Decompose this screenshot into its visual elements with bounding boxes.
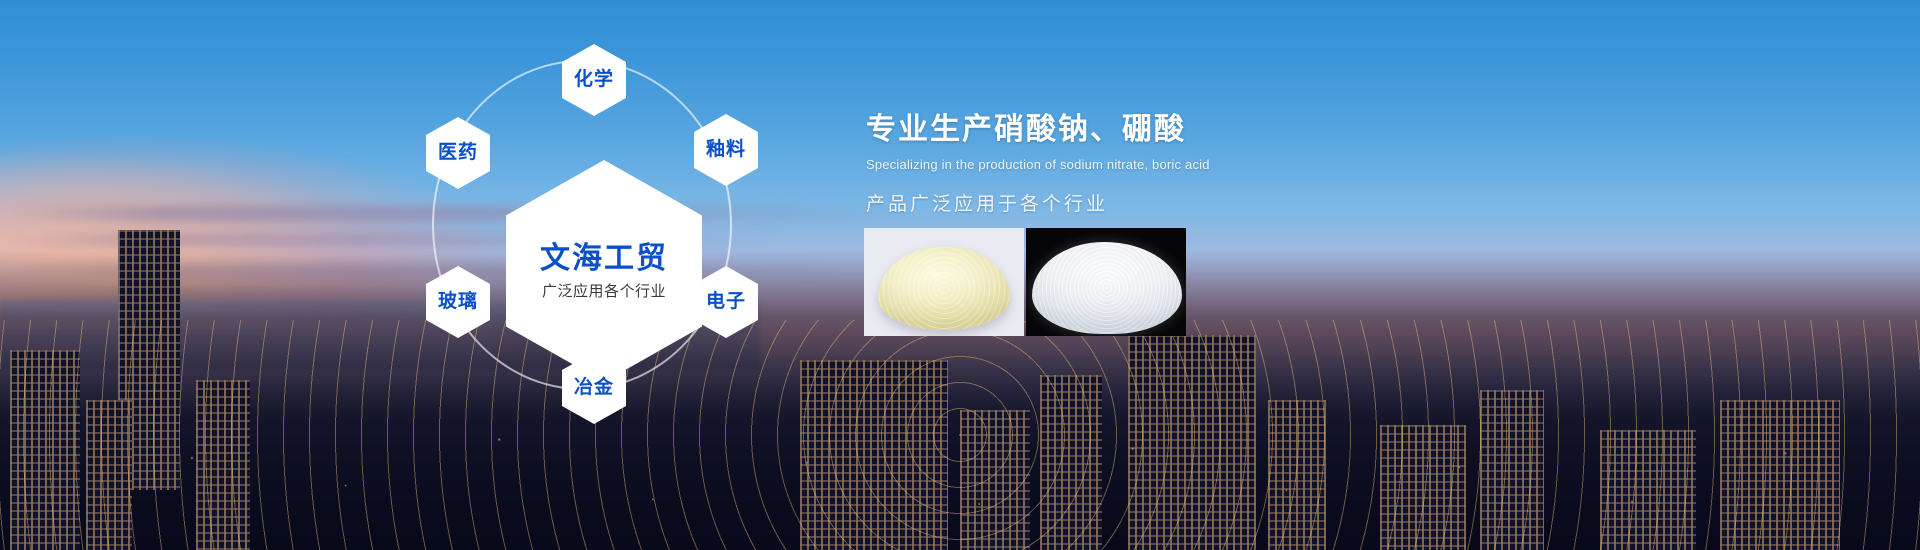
tagline: 产品广泛应用于各个行业 — [866, 189, 1566, 216]
promo-banner: 文海工贸 广泛应用各个行业 化学 釉料 电子 冶金 玻璃 医药 专业生产硝酸钠、… — [0, 0, 1920, 550]
headline: 专业生产硝酸钠、硼酸 — [866, 104, 1566, 148]
powder-pile — [878, 246, 1010, 330]
product-photo-boric-acid — [1026, 228, 1186, 336]
copy-block: 专业生产硝酸钠、硼酸 Specializing in the productio… — [866, 104, 1566, 216]
company-name: 文海工贸 — [540, 242, 668, 277]
company-tagline: 广泛应用各个行业 — [542, 283, 666, 300]
subheadline: Specializing in the production of sodium… — [866, 157, 1566, 172]
product-photo-sodium-nitrate — [864, 228, 1024, 336]
powder-pile — [1032, 242, 1182, 334]
hexagon-diagram: 文海工贸 广泛应用各个行业 化学 釉料 电子 冶金 玻璃 医药 — [0, 0, 860, 550]
